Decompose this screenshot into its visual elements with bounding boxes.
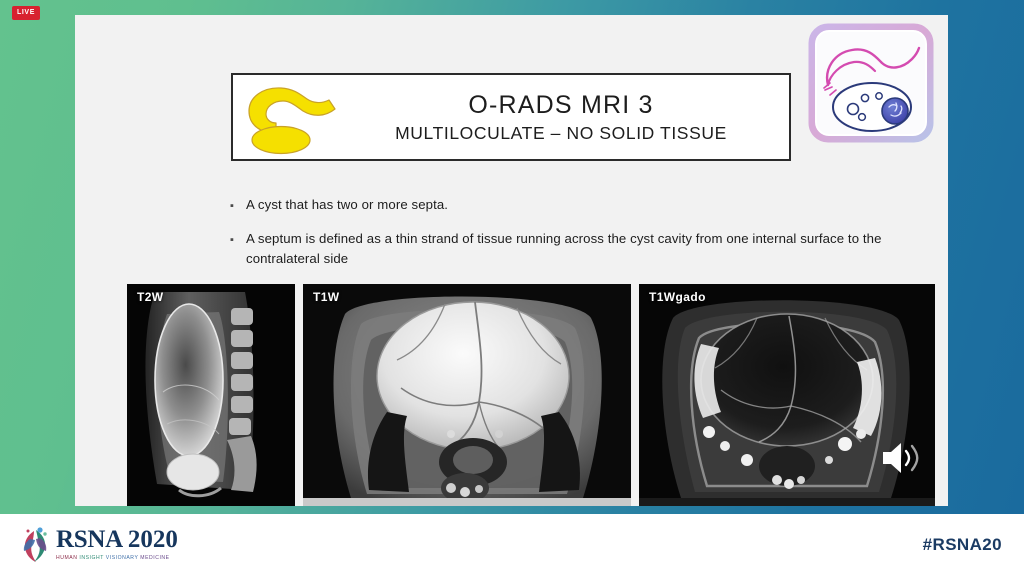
mri-panel-label: T1Wgado [649, 290, 706, 304]
bullet-text: A septum is defined as a thin strand of … [246, 229, 920, 269]
tagline-word-2: INSIGHT [79, 555, 103, 561]
mri-panel-t1wgado: T1Wgado [639, 284, 935, 506]
footer-bar: RSNA 2020 HUMAN INSIGHT VISIONARY MEDICI… [0, 514, 1024, 575]
slide-bullet-list: ▪ A cyst that has two or more septa. ▪ A… [230, 195, 920, 281]
bullet-dot-icon: ▪ [230, 229, 246, 251]
volume-speaker-icon[interactable] [877, 438, 925, 478]
mri-image-strip: T2W [127, 284, 927, 506]
bullet-text: A cyst that has two or more septa. [246, 195, 448, 215]
presentation-slide: O-RADS MRI 3 MULTILOCULATE – NO SOLID TI… [75, 15, 948, 506]
rsna-year: 2020 [128, 527, 178, 553]
rsna-figure-icon [18, 525, 52, 565]
slide-title-box: O-RADS MRI 3 MULTILOCULATE – NO SOLID TI… [231, 73, 791, 161]
tagline-word-1: HUMAN [56, 555, 77, 561]
event-hashtag: #RSNA20 [923, 535, 1002, 555]
mri-panel-t2w: T2W [127, 284, 295, 506]
tagline-word-3: VISIONARY [106, 555, 139, 561]
rsna-logo: RSNA 2020 HUMAN INSIGHT VISIONARY MEDICI… [18, 525, 178, 565]
live-badge: LIVE [12, 6, 40, 20]
mri-panel-t1w: T1W [303, 284, 631, 506]
ovary-fallopian-tube-yellow-icon [239, 79, 343, 155]
mri-panel-label: T2W [137, 290, 164, 304]
mri-panel-label: T1W [313, 290, 340, 304]
page-title: O-RADS MRI 3 [343, 90, 779, 121]
mri-image-sagittal [127, 284, 295, 506]
rsna-tagline: HUMAN INSIGHT VISIONARY MEDICINE [56, 554, 178, 562]
adnexa-multilocular-cyst-illustration-icon [806, 23, 936, 143]
rsna-name: RSNA [56, 527, 123, 553]
list-item: ▪ A cyst that has two or more septa. [230, 195, 920, 217]
list-item: ▪ A septum is defined as a thin strand o… [230, 229, 920, 269]
rsna-wordmark: RSNA 2020 HUMAN INSIGHT VISIONARY MEDICI… [56, 527, 178, 562]
page-subtitle: MULTILOCULATE – NO SOLID TISSUE [343, 121, 779, 145]
bullet-dot-icon: ▪ [230, 195, 246, 217]
tagline-word-4: MEDICINE [140, 555, 169, 561]
mri-image-axial [303, 284, 631, 506]
webinar-viewport: LIVE [0, 0, 1024, 575]
slide-title-text: O-RADS MRI 3 MULTILOCULATE – NO SOLID TI… [343, 90, 789, 145]
